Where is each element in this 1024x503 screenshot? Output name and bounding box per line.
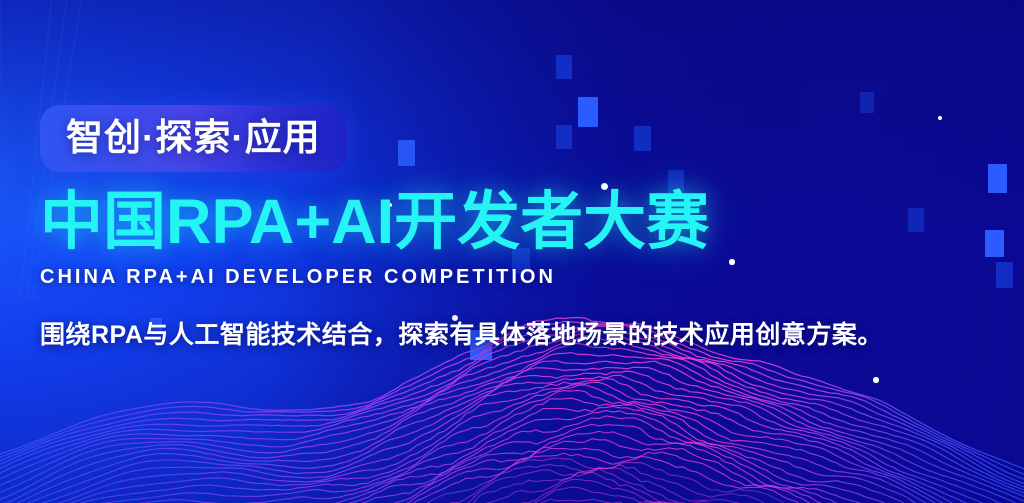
banner-content: 智创·探索·应用 中国RPA+AI开发者大赛 CHINA RPA+AI DEVE… bbox=[40, 105, 1000, 351]
tagline-text: 智创·探索·应用 bbox=[66, 119, 321, 156]
wave-contour-line bbox=[0, 371, 1024, 503]
wave-contour-line bbox=[0, 390, 1024, 503]
wave-contour-line bbox=[0, 468, 1024, 503]
wave-contour-line bbox=[0, 448, 1024, 503]
decorative-square bbox=[556, 55, 572, 79]
event-title: 中国RPA+AI开发者大赛 bbox=[40, 188, 1000, 256]
tagline-badge: 智创·探索·应用 bbox=[40, 105, 347, 172]
event-subtitle-english: CHINA RPA+AI DEVELOPER COMPETITION bbox=[40, 266, 1000, 289]
event-banner: 智创·探索·应用 中国RPA+AI开发者大赛 CHINA RPA+AI DEVE… bbox=[0, 0, 1024, 503]
event-description: 围绕RPA与人工智能技术结合，探索有具体落地场景的技术应用创意方案。 bbox=[40, 315, 1000, 351]
wave-contour-line bbox=[0, 353, 1024, 501]
